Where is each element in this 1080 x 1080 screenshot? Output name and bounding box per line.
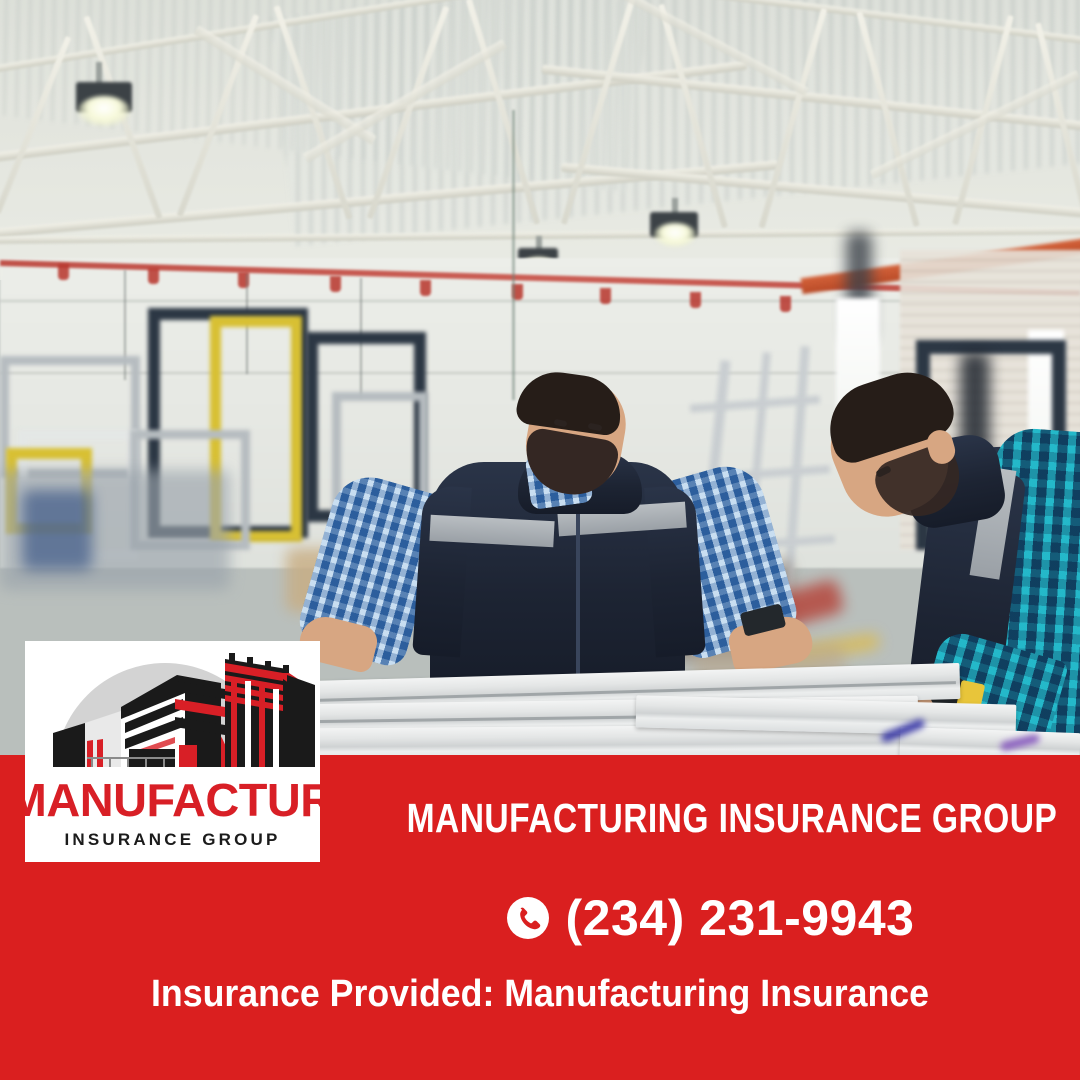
background-worker — [22, 490, 92, 570]
insurance-provided-line: Insurance Provided: Manufacturing Insura… — [70, 975, 1010, 1013]
logo-wordmark: MANUFACTURING — [25, 777, 320, 823]
social-media-post-canvas: MANUFACTURING INSURANCE GROUP (234) 231-… — [0, 0, 1080, 1080]
phone-row[interactable]: (234) 231-9943 — [340, 893, 1080, 943]
worker-left-vest-zipper — [576, 500, 580, 700]
phone-number[interactable]: (234) 231-9943 — [566, 893, 915, 943]
company-logo-card: MANUFACTURING INSURANCE GROUP — [25, 641, 320, 862]
sprinkler-head — [330, 276, 341, 292]
sprinkler-head — [148, 268, 159, 284]
sprinkler-head — [780, 296, 791, 312]
sprinkler-head — [600, 288, 611, 304]
sprinkler-head — [420, 280, 431, 296]
company-name: MANUFACTURING INSURANCE GROUP — [407, 798, 1014, 839]
logo-subwordmark: INSURANCE GROUP — [25, 831, 320, 848]
lamp-glow — [654, 223, 696, 247]
phone-circle-icon — [506, 896, 550, 940]
lamp-glow — [78, 96, 130, 126]
sprinkler-head — [690, 292, 701, 308]
factory-building-icon — [25, 641, 320, 773]
hanging-wire — [512, 110, 515, 400]
sprinkler-head — [58, 264, 69, 280]
